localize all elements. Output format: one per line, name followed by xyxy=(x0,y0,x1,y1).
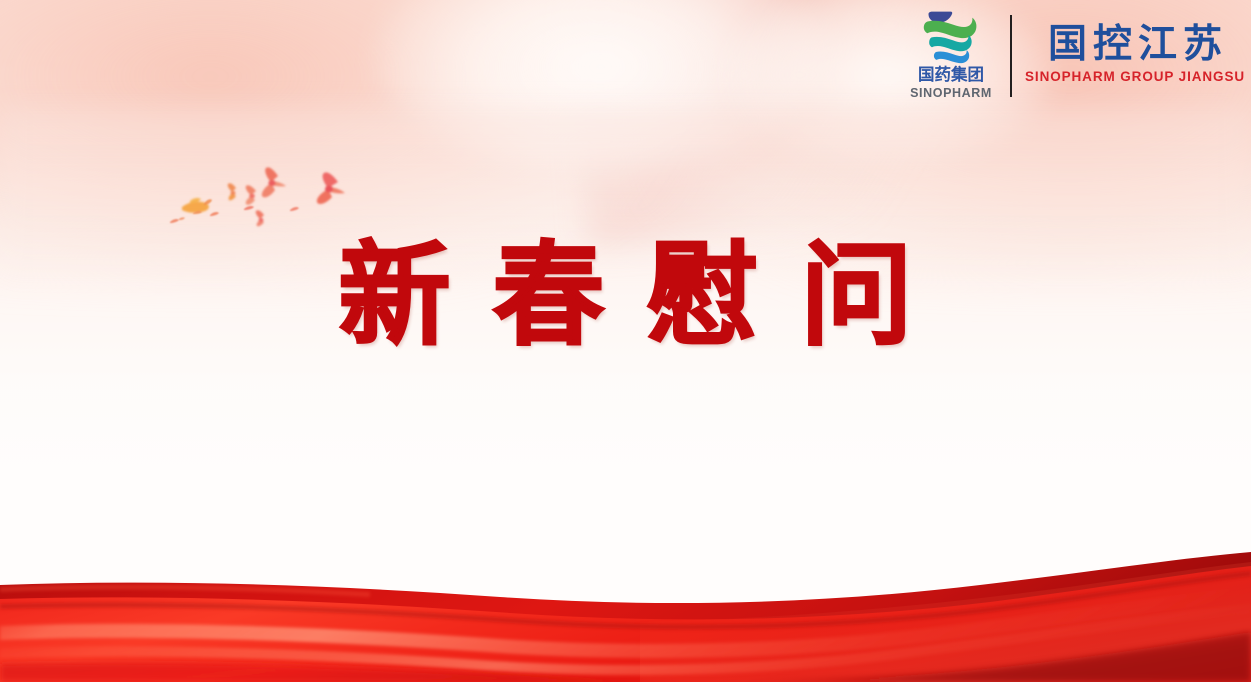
sinopharm-en-label: SINOPHARM xyxy=(910,87,992,100)
bird-10 xyxy=(244,206,254,210)
flying-birds-flock xyxy=(160,160,375,240)
sinopharm-swoosh-icon xyxy=(914,11,988,66)
page-title: 新春慰问 xyxy=(0,233,1251,358)
logo-divider xyxy=(1010,15,1012,97)
bird-3 xyxy=(246,185,256,205)
bird-1 xyxy=(317,172,345,204)
sinopharm-logo: 国药集团 SINOPHARM xyxy=(901,11,1001,101)
bird-8 xyxy=(170,217,185,223)
bird-5 xyxy=(256,210,264,226)
bird-11 xyxy=(290,207,299,211)
red-silk-ribbon xyxy=(0,552,1251,682)
sinopharm-cn-label: 国药集团 xyxy=(918,67,984,84)
logo-lockup: 国药集团 SINOPHARM 国控江苏 SINOPHARM GROUP JIAN… xyxy=(901,6,1245,106)
jiangsu-cn-label: 国控江苏 xyxy=(1042,25,1228,66)
jiangsu-logo: 国控江苏 SINOPHARM GROUP JIANGSU xyxy=(1025,25,1245,87)
bird-2 xyxy=(262,167,286,197)
greeting-banner-slide: 国药集团 SINOPHARM 国控江苏 SINOPHARM GROUP JIAN… xyxy=(0,0,1251,682)
bird-4 xyxy=(228,183,236,200)
jiangsu-en-label: SINOPHARM GROUP JIANGSU xyxy=(1025,70,1245,84)
bird-9 xyxy=(210,212,219,216)
bird-6 xyxy=(182,198,209,213)
bird-7 xyxy=(204,199,212,205)
